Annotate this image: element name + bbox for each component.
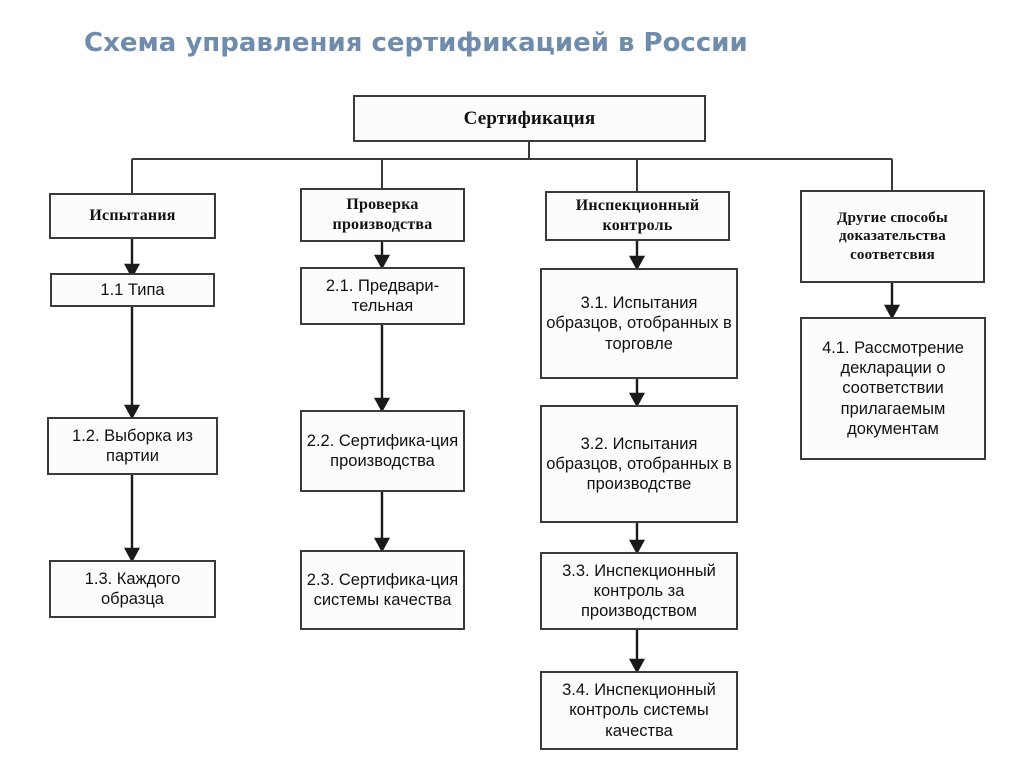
diagram-canvas: Схема управления сертификацией в России [0,0,1024,767]
node-2-1-label: 2.1. Предвари-тельная [302,276,463,316]
node-3-4[interactable]: 3.4. Инспекционный контроль системы каче… [540,671,738,750]
node-branch-2-header-label: Проверка производства [302,195,463,234]
node-root-label: Сертификация [355,107,704,130]
node-branch-1-header-label: Испытания [51,206,214,226]
node-1-2-label: 1.2. Выборка из партии [49,426,216,466]
node-branch-4-header[interactable]: Другие способы доказательства соответсви… [800,190,985,283]
node-root[interactable]: Сертификация [353,95,706,142]
node-branch-3-header[interactable]: Инспекционный контроль [545,191,730,241]
page-title: Схема управления сертификацией в России [84,28,748,58]
node-branch-3-header-label: Инспекционный контроль [547,196,728,235]
node-3-1[interactable]: 3.1. Испытания образцов, отобранных в то… [540,268,738,379]
node-branch-1-header[interactable]: Испытания [49,193,216,239]
node-1-2[interactable]: 1.2. Выборка из партии [47,417,218,475]
node-3-1-label: 3.1. Испытания образцов, отобранных в то… [542,293,736,353]
node-1-3-label: 1.3. Каждого образца [51,569,214,609]
node-3-2[interactable]: 3.2. Испытания образцов, отобранных в пр… [540,405,738,523]
node-2-2[interactable]: 2.2. Сертифика-ция производства [300,410,465,492]
node-3-3-label: 3.3. Инспекционный контроль за производс… [542,561,736,621]
node-3-3[interactable]: 3.3. Инспекционный контроль за производс… [540,552,738,630]
node-1-3[interactable]: 1.3. Каждого образца [49,560,216,618]
node-2-3[interactable]: 2.3. Сертифика-ция системы качества [300,550,465,630]
node-2-3-label: 2.3. Сертифика-ция системы качества [302,570,463,610]
node-1-1[interactable]: 1.1 Типа [50,273,215,307]
node-3-2-label: 3.2. Испытания образцов, отобранных в пр… [542,434,736,494]
node-branch-2-header[interactable]: Проверка производства [300,188,465,242]
node-branch-4-header-label: Другие способы доказательства соответсви… [802,209,983,264]
node-3-4-label: 3.4. Инспекционный контроль системы каче… [542,680,736,740]
node-1-1-label: 1.1 Типа [52,280,213,300]
node-2-2-label: 2.2. Сертифика-ция производства [302,431,463,471]
node-2-1[interactable]: 2.1. Предвари-тельная [300,267,465,325]
node-4-1-label: 4.1. Рассмотрение декларации о соответст… [802,338,984,439]
node-4-1[interactable]: 4.1. Рассмотрение декларации о соответст… [800,317,986,460]
